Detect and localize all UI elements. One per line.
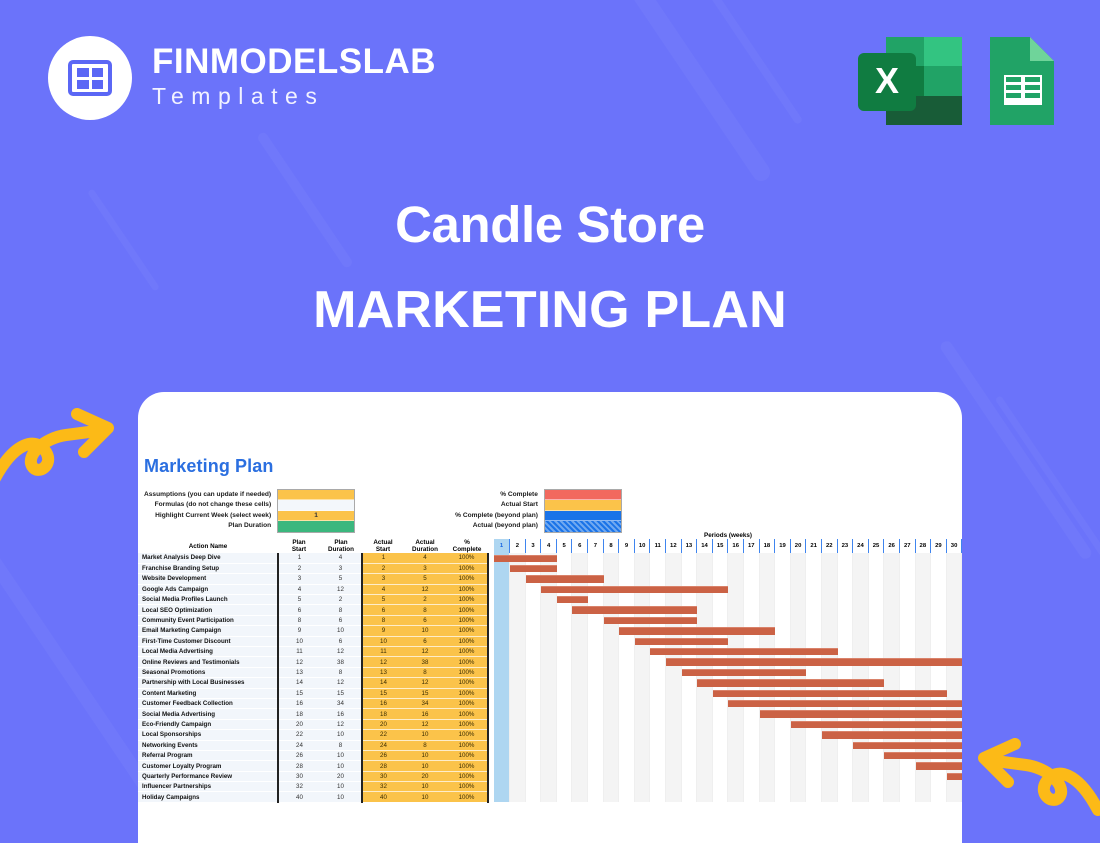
gantt-cell	[837, 605, 853, 615]
table-row[interactable]: First-Time Customer Discount106106100%	[138, 636, 962, 646]
table-row[interactable]: Local SEO Optimization6868100%	[138, 605, 962, 615]
gantt-cell	[759, 771, 775, 781]
gantt-bar	[869, 658, 885, 665]
gantt-cell	[666, 574, 682, 584]
gantt-cell	[510, 647, 526, 657]
cell-plan-start: 12	[278, 657, 320, 667]
table-row[interactable]: Community Event Participation8686100%	[138, 615, 962, 625]
gantt-cell	[681, 709, 697, 719]
gantt-cell	[712, 667, 728, 677]
period-header-11[interactable]: 11	[650, 539, 666, 553]
gantt-cell	[915, 709, 931, 719]
gantt-cell	[666, 626, 682, 636]
gantt-cell	[853, 730, 869, 740]
gantt-cell	[759, 678, 775, 688]
gantt-cell	[899, 750, 915, 760]
gantt-cell	[556, 636, 572, 646]
gantt-cell	[821, 563, 837, 573]
gantt-cell	[790, 740, 806, 750]
table-row[interactable]: Networking Events248248100%	[138, 740, 962, 750]
gantt-bar	[588, 606, 604, 613]
gantt-cell	[541, 595, 557, 605]
table-row[interactable]: Partnership with Local Businesses1412141…	[138, 678, 962, 688]
gantt-cell	[494, 761, 510, 771]
gantt-cell	[759, 574, 775, 584]
gantt-cell	[603, 657, 619, 667]
gantt-bar	[884, 690, 900, 697]
gantt-bar	[635, 627, 651, 634]
period-header-4[interactable]: 4	[541, 539, 557, 553]
gantt-cell	[931, 595, 947, 605]
cell-actual-start: 5	[362, 595, 404, 605]
cell-plan-duration: 10	[320, 782, 362, 792]
gantt-bar	[760, 679, 776, 686]
cell-pct-complete: 100%	[446, 667, 488, 677]
gantt-cell	[837, 615, 853, 625]
gantt-cell	[697, 750, 713, 760]
gantt-bar	[744, 627, 760, 634]
gantt-cell	[853, 553, 869, 563]
gantt-cell	[806, 563, 822, 573]
table-row[interactable]: Seasonal Promotions138138100%	[138, 667, 962, 677]
gantt-cell	[510, 657, 526, 667]
gantt-cell	[666, 605, 682, 615]
gantt-cell	[541, 615, 557, 625]
gantt-bar	[604, 586, 620, 593]
gantt-cell	[681, 626, 697, 636]
gantt-bar	[869, 710, 885, 717]
table-row[interactable]: Google Ads Campaign412412100%	[138, 584, 962, 594]
cell-action-name: First-Time Customer Discount	[138, 636, 278, 646]
gantt-cell	[712, 615, 728, 625]
cell-plan-duration: 8	[320, 667, 362, 677]
column-header-actual-duration[interactable]: ActualDuration	[404, 539, 446, 553]
period-header-20[interactable]: 20	[790, 539, 806, 553]
period-header-12[interactable]: 12	[666, 539, 682, 553]
gantt-bar	[947, 773, 962, 780]
cell-pct-complete: 100%	[446, 740, 488, 750]
gantt-cell	[775, 792, 791, 802]
gantt-cell	[915, 782, 931, 792]
gantt-cell	[728, 688, 744, 698]
gantt-cell	[744, 740, 760, 750]
gantt-cell	[821, 782, 837, 792]
gantt-cell	[572, 730, 588, 740]
gantt-cell	[931, 553, 947, 563]
gantt-cell	[712, 595, 728, 605]
gantt-cell	[744, 626, 760, 636]
gantt-cell	[868, 553, 884, 563]
cell-pct-complete: 100%	[446, 792, 488, 802]
gantt-cell	[853, 584, 869, 594]
gantt-cell	[681, 563, 697, 573]
gantt-cell	[619, 709, 635, 719]
gantt-cell	[915, 698, 931, 708]
gantt-cell	[759, 719, 775, 729]
gantt-bar	[728, 700, 744, 707]
gantt-bar	[572, 575, 588, 582]
period-header-3[interactable]: 3	[525, 539, 541, 553]
gantt-bar	[916, 752, 932, 759]
table-row[interactable]: Content Marketing15151515100%	[138, 688, 962, 698]
gantt-cell	[556, 688, 572, 698]
gantt-cell	[759, 636, 775, 646]
gantt-cell	[759, 698, 775, 708]
gantt-cell	[712, 740, 728, 750]
gantt-cell	[884, 719, 900, 729]
table-row[interactable]: Influencer Partnerships32103210100%	[138, 782, 962, 792]
cell-plan-duration: 12	[320, 584, 362, 594]
gantt-cell	[603, 740, 619, 750]
cell-plan-duration: 6	[320, 615, 362, 625]
gantt-cell	[494, 688, 510, 698]
gantt-cell	[494, 615, 510, 625]
period-header-15[interactable]: 15	[712, 539, 728, 553]
cell-actual-start: 4	[362, 584, 404, 594]
gantt-cell	[556, 563, 572, 573]
gantt-cell	[697, 792, 713, 802]
gantt-cell	[541, 709, 557, 719]
gantt-cell	[946, 771, 962, 781]
gantt-bar	[775, 690, 791, 697]
gantt-cell	[931, 667, 947, 677]
gantt-cell	[884, 647, 900, 657]
gantt-cell	[603, 771, 619, 781]
gantt-cell	[634, 615, 650, 625]
gantt-cell	[853, 605, 869, 615]
table-row[interactable]: Eco-Friendly Campaign20122012100%	[138, 719, 962, 729]
gantt-bar	[728, 679, 744, 686]
gantt-cell	[510, 740, 526, 750]
table-row[interactable]: Website Development3535100%	[138, 574, 962, 584]
cell-plan-duration: 34	[320, 698, 362, 708]
cell-plan-start: 20	[278, 719, 320, 729]
gantt-cell	[681, 792, 697, 802]
legend-label: Formulas (do not change these cells)	[144, 500, 271, 510]
period-header-26[interactable]: 26	[884, 539, 900, 553]
gantt-cell	[759, 595, 775, 605]
gantt-cell	[634, 730, 650, 740]
period-header-2[interactable]: 2	[510, 539, 526, 553]
gantt-cell	[931, 750, 947, 760]
cell-plan-start: 15	[278, 688, 320, 698]
gantt-cell	[806, 771, 822, 781]
period-header-8[interactable]: 8	[603, 539, 619, 553]
gantt-bar	[744, 648, 760, 655]
cell-plan-start: 30	[278, 771, 320, 781]
table-row[interactable]: Holiday Campaigns40104010100%	[138, 792, 962, 802]
table-row[interactable]: Social Media Profiles Launch5252100%	[138, 595, 962, 605]
period-header-9[interactable]: 9	[619, 539, 635, 553]
gantt-cell	[884, 782, 900, 792]
cell-actual-duration: 20	[404, 771, 446, 781]
gantt-cell	[666, 750, 682, 760]
gantt-cell	[541, 698, 557, 708]
period-header-5[interactable]: 5	[556, 539, 572, 553]
gantt-cell	[541, 792, 557, 802]
gantt-cell	[790, 615, 806, 625]
gantt-cell	[525, 595, 541, 605]
gantt-cell	[744, 605, 760, 615]
cell-actual-duration: 10	[404, 730, 446, 740]
gantt-cell	[775, 709, 791, 719]
gantt-cell	[510, 667, 526, 677]
gantt-cell	[790, 553, 806, 563]
gantt-cell	[931, 615, 947, 625]
gantt-bar	[900, 710, 916, 717]
gantt-cell	[946, 719, 962, 729]
cell-plan-duration: 12	[320, 647, 362, 657]
gantt-cell	[588, 647, 604, 657]
cell-plan-start: 40	[278, 792, 320, 802]
gantt-cell	[946, 647, 962, 657]
gantt-cell	[853, 615, 869, 625]
table-row[interactable]: Franchise Branding Setup2323100%	[138, 563, 962, 573]
hero-title-line2: MARKETING PLAN	[0, 281, 1100, 341]
gantt-bar	[853, 679, 869, 686]
gantt-bar	[744, 690, 760, 697]
gantt-bar	[806, 721, 822, 728]
gantt-bar	[900, 721, 916, 728]
gantt-cell	[775, 678, 791, 688]
gantt-cell	[525, 647, 541, 657]
period-header-10[interactable]: 10	[634, 539, 650, 553]
column-header-plan-start[interactable]: PlanStart	[278, 539, 320, 553]
gantt-cell	[619, 730, 635, 740]
gantt-cell	[541, 740, 557, 750]
gantt-bar	[697, 586, 713, 593]
gantt-cell	[853, 667, 869, 677]
period-header-6[interactable]: 6	[572, 539, 588, 553]
gantt-cell	[790, 595, 806, 605]
gantt-cell	[884, 626, 900, 636]
gantt-cell	[868, 719, 884, 729]
gantt-cell	[556, 595, 572, 605]
gantt-cell	[510, 584, 526, 594]
gantt-bar	[838, 731, 854, 738]
cell-actual-start: 16	[362, 698, 404, 708]
gantt-cell	[821, 730, 837, 740]
gantt-cell	[494, 750, 510, 760]
gantt-cell	[650, 740, 666, 750]
gantt-bar	[666, 627, 682, 634]
legend-left-swatches: 1	[277, 489, 355, 533]
period-header-13[interactable]: 13	[681, 539, 697, 553]
cell-pct-complete: 100%	[446, 657, 488, 667]
gantt-cell	[837, 761, 853, 771]
gantt-bar	[697, 648, 713, 655]
gantt-bar	[775, 648, 791, 655]
table-row[interactable]: Referral Program26102610100%	[138, 750, 962, 760]
spreadsheet-card: Marketing Plan Assumptions (you can upda…	[138, 392, 962, 843]
gantt-cell	[556, 750, 572, 760]
table-row[interactable]: Online Reviews and Testimonials123812381…	[138, 657, 962, 667]
gantt-cell	[837, 563, 853, 573]
gantt-cell	[666, 740, 682, 750]
gantt-cell	[650, 782, 666, 792]
table-row[interactable]: Email Marketing Campaign910910100%	[138, 626, 962, 636]
cell-action-name: Partnership with Local Businesses	[138, 678, 278, 688]
gantt-cell	[899, 605, 915, 615]
gantt-cell	[868, 584, 884, 594]
period-header-27[interactable]: 27	[899, 539, 915, 553]
gantt-cell	[899, 553, 915, 563]
period-header-7[interactable]: 7	[588, 539, 604, 553]
gantt-cell	[619, 750, 635, 760]
gantt-bar	[791, 710, 807, 717]
gantt-bar	[822, 690, 838, 697]
gantt-cell	[634, 771, 650, 781]
gantt-cell	[619, 740, 635, 750]
period-header-1[interactable]: 1	[494, 539, 510, 553]
brand-logo: FINMODELSLAB Templates	[48, 36, 436, 120]
gantt-cell	[931, 584, 947, 594]
period-header-30[interactable]: 30	[946, 539, 962, 553]
cell-pct-complete: 100%	[446, 771, 488, 781]
brand-subtitle: Templates	[152, 82, 436, 112]
gantt-bar	[916, 658, 932, 665]
gantt-cell	[572, 771, 588, 781]
gantt-cell	[697, 678, 713, 688]
gantt-cell	[790, 636, 806, 646]
gantt-cell	[541, 761, 557, 771]
gantt-cell	[681, 782, 697, 792]
gantt-cell	[853, 563, 869, 573]
period-header-23[interactable]: 23	[837, 539, 853, 553]
gantt-bar	[791, 700, 807, 707]
gantt-cell	[946, 636, 962, 646]
gantt-cell	[759, 782, 775, 792]
cell-plan-duration: 38	[320, 657, 362, 667]
gantt-bar	[900, 731, 916, 738]
gantt-cell	[728, 730, 744, 740]
gantt-cell	[603, 584, 619, 594]
gantt-cell	[759, 667, 775, 677]
gantt-cell	[697, 698, 713, 708]
gantt-cell	[931, 647, 947, 657]
cell-pct-complete: 100%	[446, 647, 488, 657]
gantt-bar	[884, 731, 900, 738]
period-header-19[interactable]: 19	[775, 539, 791, 553]
table-row[interactable]: Customer Loyalty Program28102810100%	[138, 761, 962, 771]
table-row[interactable]: Social Media Advertising18161816100%	[138, 709, 962, 719]
gantt-cell	[619, 574, 635, 584]
gantt-cell	[541, 647, 557, 657]
cell-action-name: Eco-Friendly Campaign	[138, 719, 278, 729]
gantt-bar	[713, 586, 729, 593]
gantt-cell	[744, 647, 760, 657]
gantt-cell	[775, 647, 791, 657]
gantt-cell	[494, 771, 510, 781]
gantt-cell	[868, 782, 884, 792]
cell-plan-start: 3	[278, 574, 320, 584]
gantt-cell	[915, 761, 931, 771]
gantt-bar	[853, 690, 869, 697]
gantt-cell	[603, 626, 619, 636]
period-header-29[interactable]: 29	[931, 539, 947, 553]
period-header-17[interactable]: 17	[744, 539, 760, 553]
cell-actual-start: 9	[362, 626, 404, 636]
period-header-14[interactable]: 14	[697, 539, 713, 553]
gantt-cell	[556, 584, 572, 594]
gantt-cell	[790, 750, 806, 760]
gantt-cell	[588, 792, 604, 802]
column-header-complete[interactable]: %Complete	[446, 539, 488, 553]
cell-actual-duration: 4	[404, 553, 446, 563]
column-header-plan-duration[interactable]: PlanDuration	[320, 539, 362, 553]
gantt-cell	[884, 730, 900, 740]
gantt-cell	[650, 771, 666, 781]
gantt-cell	[556, 657, 572, 667]
period-header-18[interactable]: 18	[759, 539, 775, 553]
cell-actual-start: 13	[362, 667, 404, 677]
cell-actual-duration: 12	[404, 678, 446, 688]
current-week-input[interactable]: 1	[278, 511, 354, 521]
column-header-actual-start[interactable]: ActualStart	[362, 539, 404, 553]
table-row[interactable]: Customer Feedback Collection16341634100%	[138, 698, 962, 708]
hero-title-line1: Candle Store	[0, 196, 1100, 255]
swatch-pct-complete-beyond	[545, 511, 621, 521]
gantt-cell	[837, 667, 853, 677]
period-header-28[interactable]: 28	[915, 539, 931, 553]
legend-label: Actual Start	[455, 500, 538, 510]
gantt-cell	[884, 574, 900, 584]
gantt-cell	[619, 563, 635, 573]
table-row[interactable]: Local Sponsorships22102210100%	[138, 730, 962, 740]
period-header-22[interactable]: 22	[821, 539, 837, 553]
gantt-cell	[915, 605, 931, 615]
gantt-cell	[899, 584, 915, 594]
gantt-cell	[712, 688, 728, 698]
gantt-cell	[837, 709, 853, 719]
gantt-cell	[728, 553, 744, 563]
gantt-cell	[619, 782, 635, 792]
gantt-cell	[619, 605, 635, 615]
gantt-cell	[556, 709, 572, 719]
gantt-cell	[806, 553, 822, 563]
gantt-cell	[681, 584, 697, 594]
table-row[interactable]: Market Analysis Deep Dive1414100%	[138, 553, 962, 563]
gantt-cell	[634, 647, 650, 657]
periods-header: Periods (weeks)	[494, 532, 962, 539]
gantt-bar	[916, 721, 932, 728]
cell-plan-start: 13	[278, 667, 320, 677]
gantt-cell	[588, 730, 604, 740]
gantt-cell	[915, 563, 931, 573]
gantt-cell	[588, 626, 604, 636]
gantt-cell	[946, 761, 962, 771]
gantt-cell	[510, 563, 526, 573]
gantt-bar	[588, 575, 604, 582]
period-header-24[interactable]: 24	[853, 539, 869, 553]
table-row[interactable]: Local Media Advertising11121112100%	[138, 647, 962, 657]
table-row[interactable]: Quarterly Performance Review30203020100%	[138, 771, 962, 781]
gantt-cell	[759, 740, 775, 750]
gantt-cell	[790, 698, 806, 708]
gantt-cell	[915, 667, 931, 677]
period-header-25[interactable]: 25	[868, 539, 884, 553]
gantt-bar	[728, 658, 744, 665]
column-header-action-name[interactable]: Action Name	[138, 539, 278, 553]
gantt-cell	[946, 792, 962, 802]
period-header-16[interactable]: 16	[728, 539, 744, 553]
gantt-cell	[853, 657, 869, 667]
gantt-cell	[744, 584, 760, 594]
gantt-bar	[650, 627, 666, 634]
gantt-cell	[821, 647, 837, 657]
gantt-cell	[884, 761, 900, 771]
period-header-21[interactable]: 21	[806, 539, 822, 553]
